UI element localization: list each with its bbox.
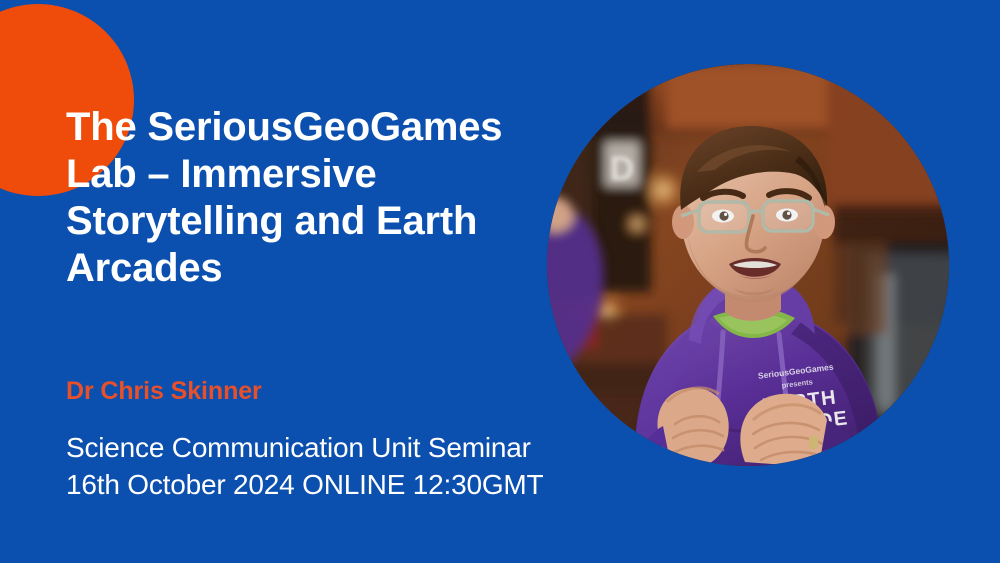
speaker-name: Dr Chris Skinner [66, 376, 626, 406]
event-details: Science Communication Unit Seminar 16th … [66, 429, 626, 503]
seminar-announcement-slide: D [0, 0, 1000, 563]
event-line-datetime: 16th October 2024 ONLINE 12:30GMT [66, 466, 626, 503]
title-block: The SeriousGeoGames Lab – Immersive Stor… [66, 104, 536, 292]
event-line-series: Science Communication Unit Seminar [66, 429, 626, 466]
page-title: The SeriousGeoGames Lab – Immersive Stor… [66, 104, 536, 292]
speaker-details-block: Dr Chris Skinner Science Communication U… [66, 376, 626, 503]
